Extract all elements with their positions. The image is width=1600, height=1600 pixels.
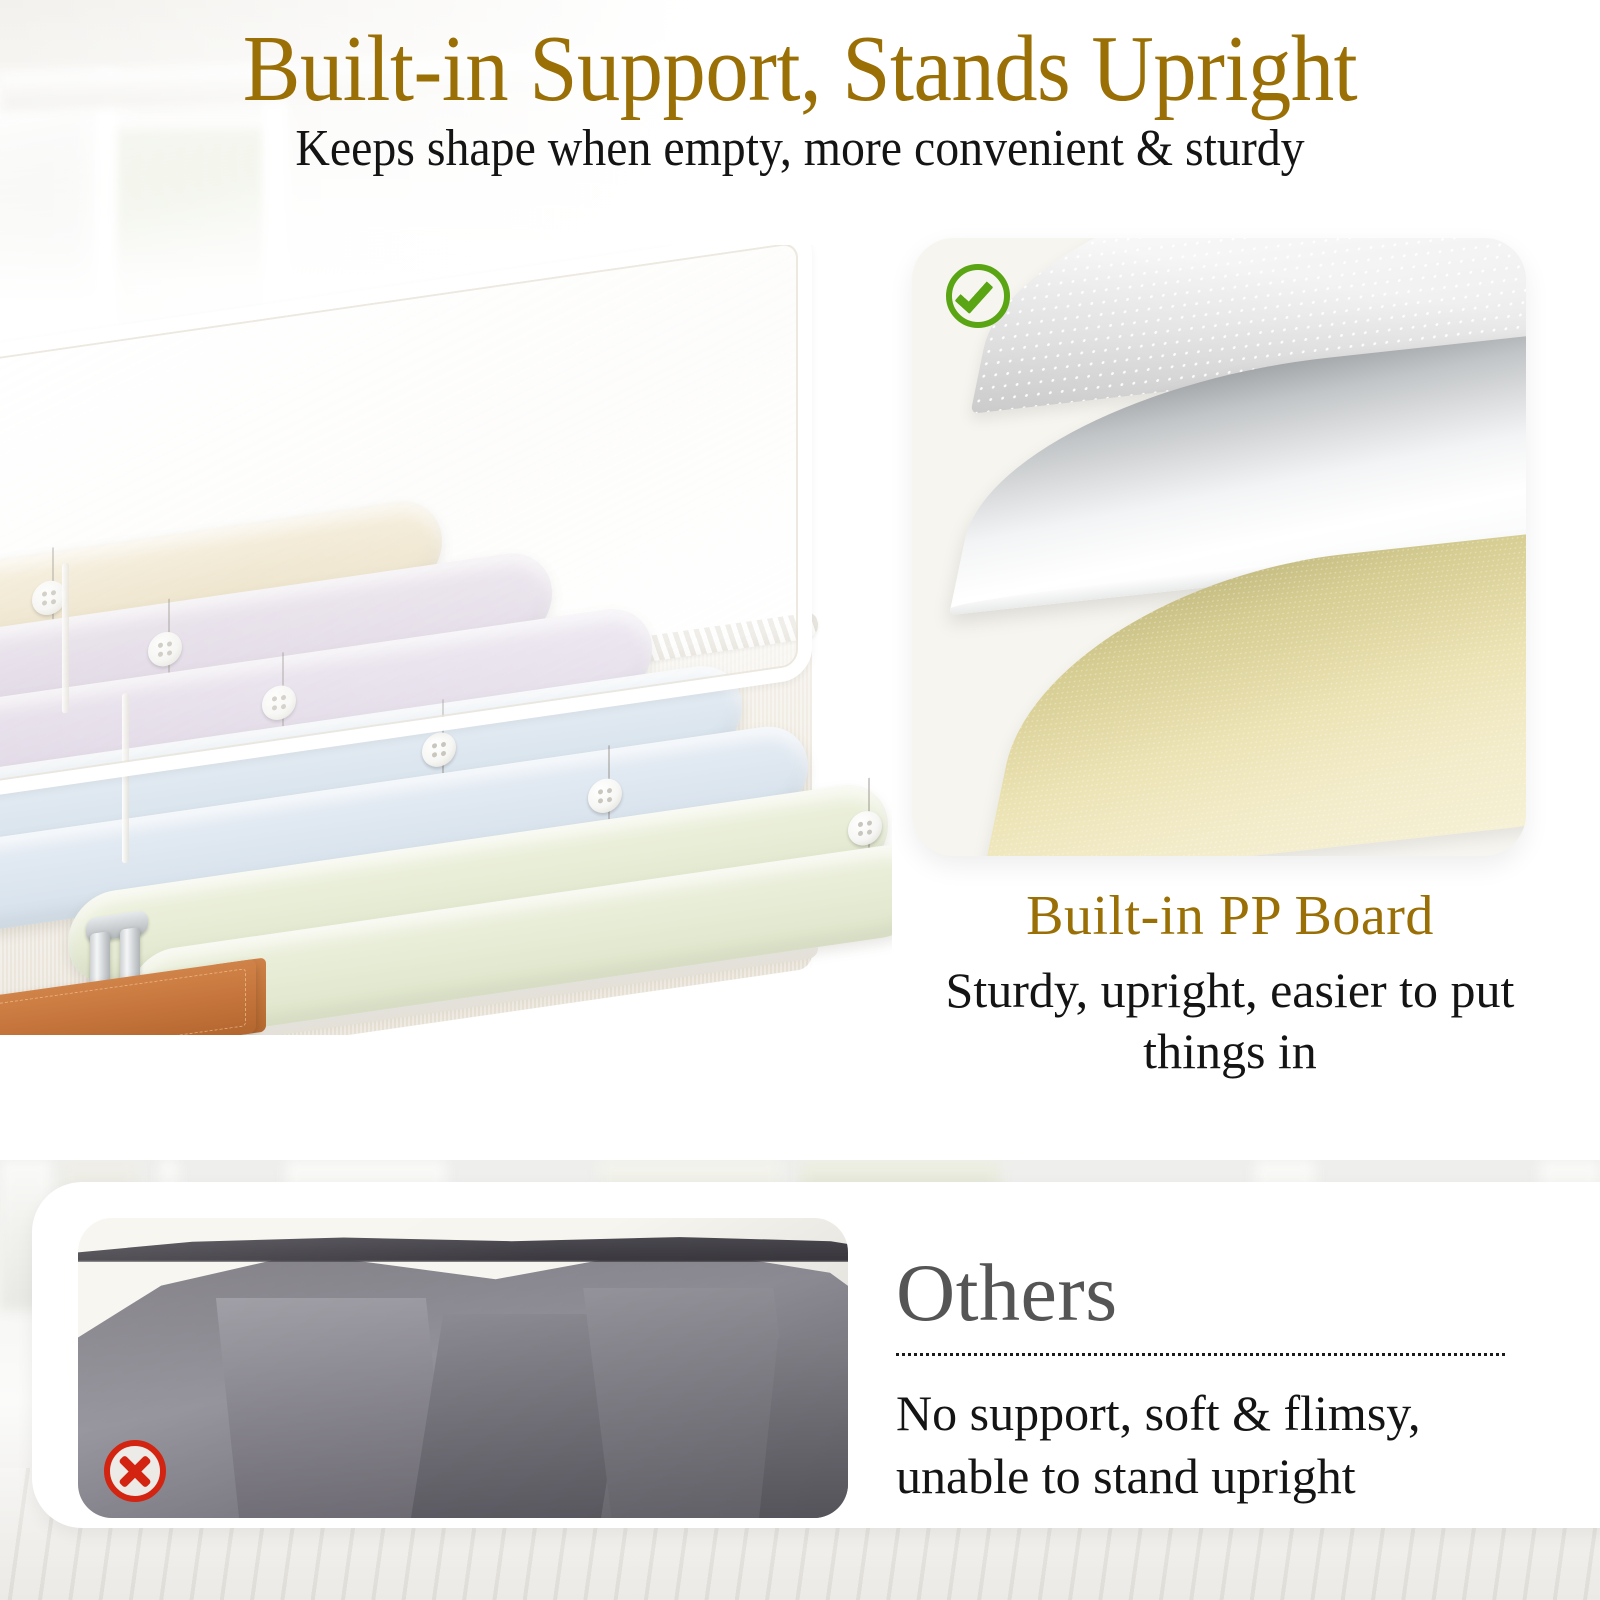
shirt-button [848, 809, 882, 848]
pp-board-title: Built-in PP Board [880, 884, 1580, 948]
storage-bin [0, 263, 882, 1033]
divider [896, 1352, 1506, 1357]
hero-product-photo [0, 245, 892, 1035]
page-subtitle: Keeps shape when empty, more convenient … [64, 120, 1536, 177]
shirt-button [588, 776, 622, 815]
pp-board-card [912, 238, 1526, 856]
pp-board-description: Sturdy, upright, easier to put things in [880, 960, 1580, 1082]
check-badge-icon [946, 264, 1010, 328]
top-section: Built-in Support, Stands Upright Keeps s… [0, 0, 1600, 1160]
page-title: Built-in Support, Stands Upright [64, 22, 1536, 118]
cross-badge-icon [104, 1440, 166, 1502]
others-title: Others [896, 1246, 1118, 1340]
marketing-infographic: Built-in Support, Stands Upright Keeps s… [0, 0, 1600, 1600]
others-product-photo [78, 1218, 848, 1518]
gray-organizer [78, 1218, 848, 1518]
others-description: No support, soft & flimsy, unable to sta… [896, 1382, 1536, 1508]
organizer-sheen [78, 1218, 848, 1518]
